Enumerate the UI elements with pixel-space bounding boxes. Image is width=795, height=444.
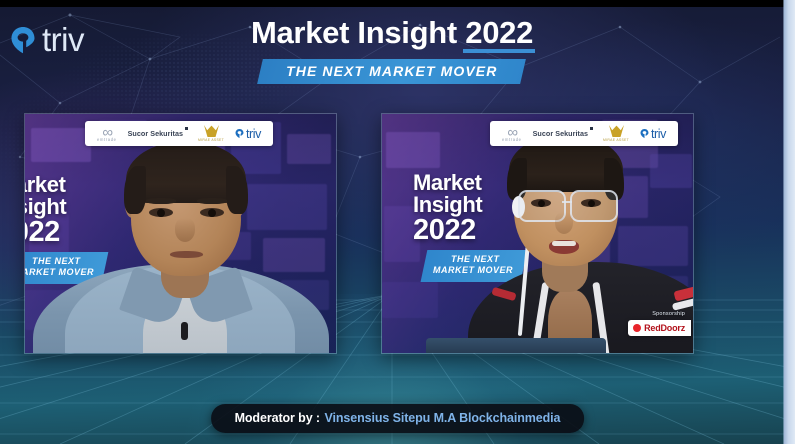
logo-entrade: ∞ emtrade <box>502 125 522 142</box>
reddoorz-label: RedDoorz <box>644 323 685 333</box>
page-title: Market Insight 2022 <box>251 17 533 52</box>
logo-sucor-sekuritas: Sucor Sekuritas <box>533 129 592 138</box>
top-letterbox-bar <box>0 0 795 7</box>
reddoorz-logo: RedDoorz <box>628 320 691 336</box>
logo-triv: triv <box>235 127 261 141</box>
logo-crown-m: MIRAE ASSET <box>603 124 629 142</box>
event-subtitle: THE NEXT MARKET MOVER <box>286 63 497 79</box>
page-right-edge-strip <box>784 0 795 444</box>
logo-entrade-label: emtrade <box>502 138 522 142</box>
moderator-banner: Moderator by : Vinsensius Sitepu M.A Blo… <box>211 404 585 433</box>
logo-entrade-label: emtrade <box>97 138 117 142</box>
crown-m-icon <box>203 124 220 138</box>
logo-triv-label: triv <box>651 127 666 141</box>
title-year: 2022 <box>465 17 533 52</box>
logo-sucor-sekuritas: Sucor Sekuritas <box>128 129 187 138</box>
sponsorship-block: Sponsorship RedDoorz <box>628 311 691 337</box>
moderator-label: Moderator by : <box>235 411 320 425</box>
location-pin-icon <box>640 128 649 139</box>
logo-triv-label: triv <box>246 127 261 141</box>
logo-entrade: ∞ emtrade <box>97 125 117 142</box>
logo-triv: triv <box>640 127 666 141</box>
crown-m-icon <box>608 124 625 138</box>
sponsor-logo-bar-left: ∞ emtrade Sucor Sekuritas MIRAE ASSET tr… <box>85 121 273 146</box>
event-subtitle-banner: THE NEXT MARKET MOVER <box>257 59 526 84</box>
infinity-icon: ∞ <box>507 125 516 137</box>
infinity-icon: ∞ <box>102 125 111 137</box>
sponsor-logo-bar-right: ∞ emtrade Sucor Sekuritas MIRAE ASSET tr… <box>490 121 678 146</box>
logo-crown-m: MIRAE ASSET <box>198 124 224 142</box>
reddoorz-dot-icon <box>633 324 641 332</box>
video-tile-right[interactable]: Market Insight 2022 THE NEXT MARKET MOVE… <box>381 113 694 354</box>
logo-crown-m-label: MIRAE ASSET <box>603 139 629 142</box>
event-header: Market Insight 2022 THE NEXT MARKET MOVE… <box>0 17 784 84</box>
title-main: Market Insight <box>251 15 457 50</box>
location-pin-icon <box>235 128 244 139</box>
video-tile-left[interactable]: Market Insight 2022 THE NEXT MARKET MOVE… <box>24 113 337 354</box>
webinar-screen: triv Market Insight 2022 THE NEXT MARKET… <box>0 0 795 444</box>
moderator-name: Vinsensius Sitepu M.A Blockchainmedia <box>324 411 560 425</box>
logo-crown-m-label: MIRAE ASSET <box>198 139 224 142</box>
sponsorship-label: Sponsorship <box>628 311 685 317</box>
speaker-left <box>25 114 336 353</box>
